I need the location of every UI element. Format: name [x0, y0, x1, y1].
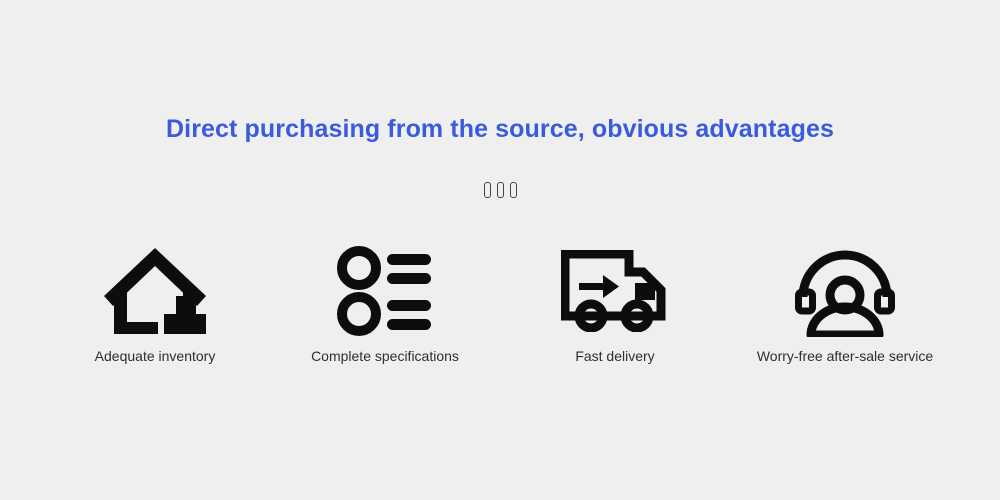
feature-item-specifications: Complete specifications — [270, 243, 500, 365]
feature-label: Adequate inventory — [95, 347, 216, 365]
page-title: Direct purchasing from the source, obvio… — [166, 112, 834, 146]
feature-item-support: Worry-free after-sale service — [730, 243, 960, 365]
specification-list-icon — [337, 243, 433, 338]
feature-label: Worry-free after-sale service — [757, 347, 933, 365]
divider-mark-icon — [484, 182, 491, 198]
feature-label: Fast delivery — [575, 347, 654, 365]
page-title-container: Direct purchasing from the source, obvio… — [0, 112, 1000, 146]
feature-list: Adequate inventory Complete specific — [40, 243, 960, 365]
feature-item-delivery: Fast delivery — [500, 243, 730, 365]
warehouse-house-icon — [102, 243, 208, 338]
feature-item-inventory: Adequate inventory — [40, 243, 270, 365]
headset-support-agent-icon — [795, 243, 895, 338]
divider-mark-icon — [497, 182, 504, 198]
feature-label: Complete specifications — [311, 347, 459, 365]
delivery-truck-icon — [561, 243, 669, 338]
advantages-banner: Direct purchasing from the source, obvio… — [0, 0, 1000, 500]
decorative-divider — [0, 180, 1000, 200]
divider-mark-icon — [510, 182, 517, 198]
